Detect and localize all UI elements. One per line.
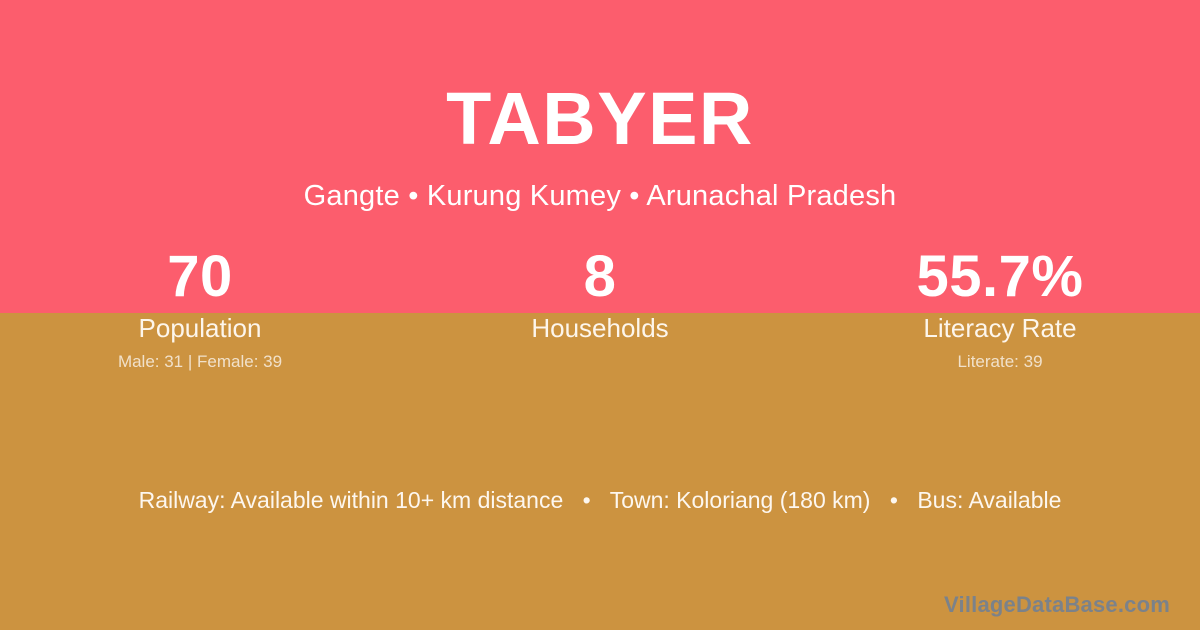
amenity-bus: Bus: Available bbox=[917, 487, 1061, 513]
amenity-town: Town: Koloriang (180 km) bbox=[610, 487, 871, 513]
stat-households: 8 Households bbox=[400, 246, 800, 372]
stat-sub-households bbox=[400, 352, 800, 372]
stat-sub-population: Male: 31 | Female: 39 bbox=[0, 352, 400, 372]
stat-value-population: 70 bbox=[0, 246, 400, 308]
card-header: TABYER Gangte • Kurung Kumey • Arunachal… bbox=[0, 0, 1200, 213]
stat-sub-literacy-rate: Literate: 39 bbox=[800, 352, 1200, 372]
stat-literacy-rate: 55.7% Literacy Rate Literate: 39 bbox=[800, 246, 1200, 372]
watermark-brand: VillageDataBase.com bbox=[944, 592, 1170, 618]
village-info-card: TABYER Gangte • Kurung Kumey • Arunachal… bbox=[0, 0, 1200, 630]
page-title: TABYER bbox=[0, 0, 1200, 156]
stat-population: 70 Population Male: 31 | Female: 39 bbox=[0, 246, 400, 372]
stat-label-literacy-rate: Literacy Rate bbox=[800, 313, 1200, 343]
amenity-separator-2: • bbox=[877, 483, 911, 517]
breadcrumb: Gangte • Kurung Kumey • Arunachal Prades… bbox=[0, 156, 1200, 213]
stats-row: 70 Population Male: 31 | Female: 39 8 Ho… bbox=[0, 246, 1200, 372]
stat-label-households: Households bbox=[400, 313, 800, 343]
amenity-railway: Railway: Available within 10+ km distanc… bbox=[139, 487, 564, 513]
stat-label-population: Population bbox=[0, 313, 400, 343]
amenity-separator-1: • bbox=[570, 483, 604, 517]
stat-value-households: 8 bbox=[400, 246, 800, 308]
stat-value-literacy-rate: 55.7% bbox=[800, 246, 1200, 308]
amenities-line: Railway: Available within 10+ km distanc… bbox=[0, 483, 1200, 517]
